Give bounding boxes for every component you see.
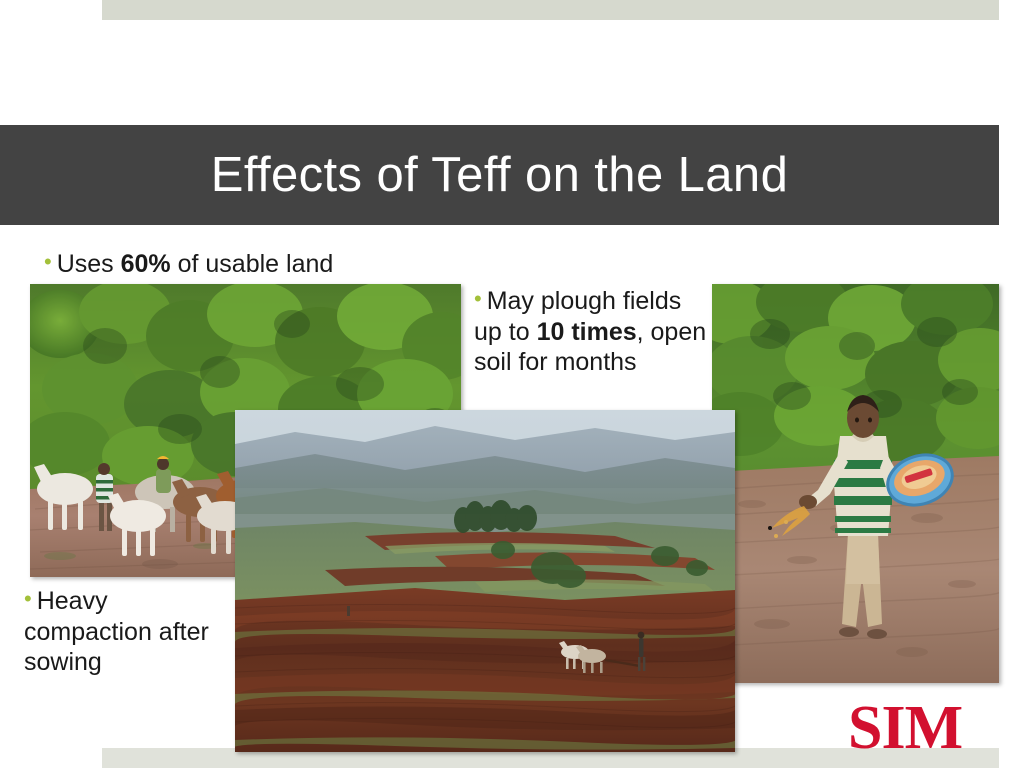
bullet-compaction-text: Heavy compaction after sowing [24,587,209,676]
photo-ploughed-landscape [235,410,735,752]
top-accent-band [102,0,999,20]
photo-farmer-sowing [712,284,999,683]
bullet-uses-land: •Uses 60% of usable land [44,249,464,280]
page-title: Effects of Teff on the Land [211,147,788,203]
bullet-dot-icon: • [24,586,32,611]
bullet-uses-land-part-3: of usable land [171,250,334,278]
slide-title-bar: Effects of Teff on the Land [0,125,999,225]
bullet-dot-icon: • [474,286,482,311]
photo-farmer-sowing-art [712,284,999,683]
bullet-plough-times: •May plough fields up to 10 times, open … [474,286,710,378]
sim-logo: SIM [848,697,962,759]
bullet-uses-land-emphasis: 60% [121,250,171,278]
bullet-plough-emphasis: 10 times [537,318,637,346]
bullet-compaction: •Heavy compaction after sowing [24,586,239,678]
bullet-uses-land-part-1: Uses [57,250,121,278]
photo-ploughed-landscape-art [235,410,735,752]
bullet-dot-icon: • [44,249,52,274]
